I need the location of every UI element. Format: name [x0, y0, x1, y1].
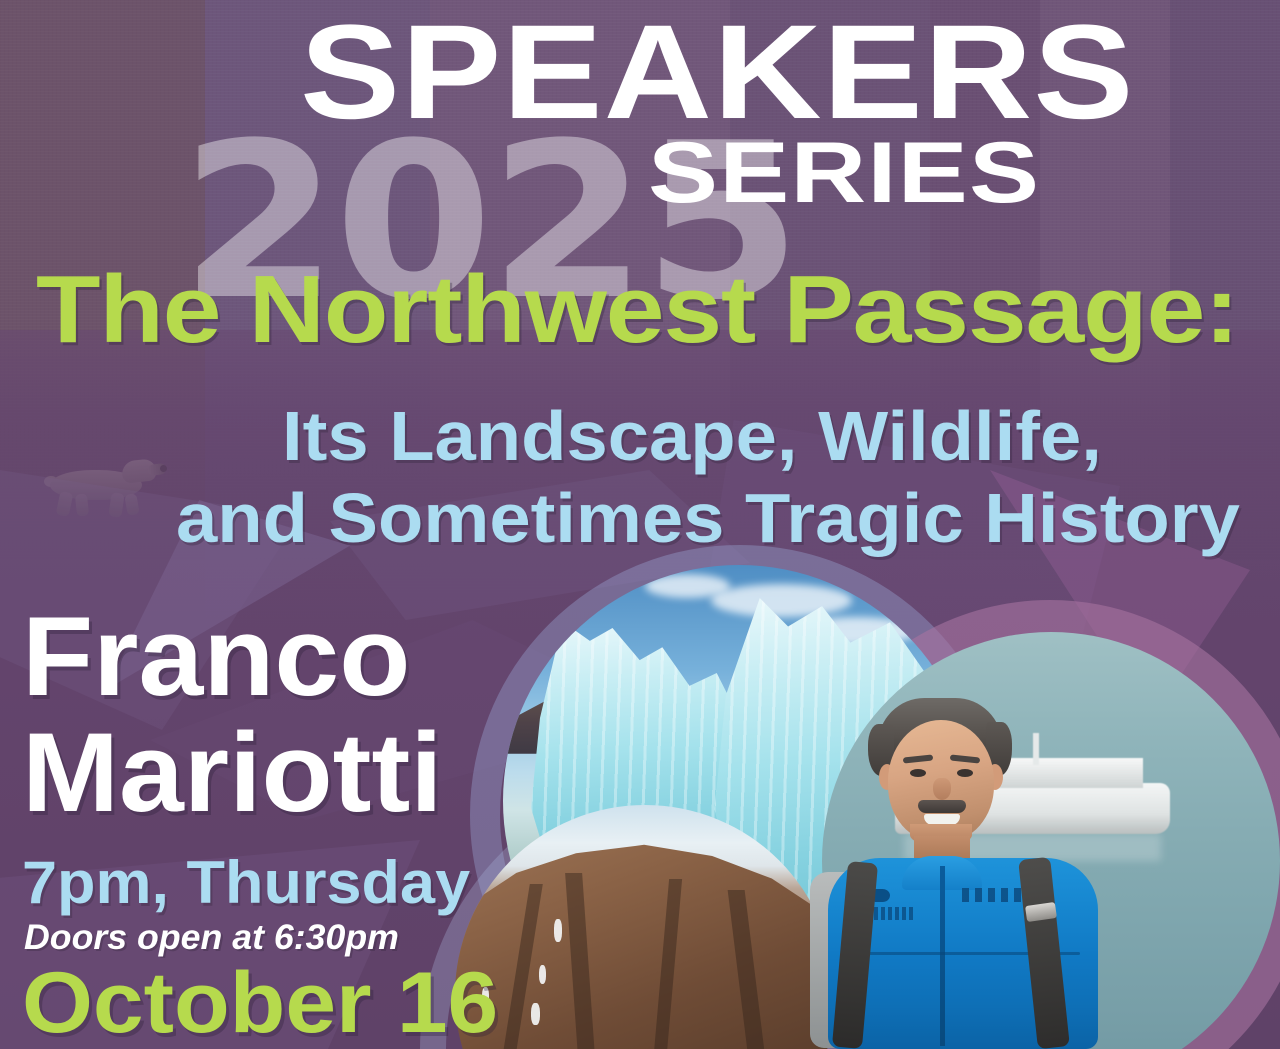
- event-date: October 16: [22, 954, 498, 1049]
- mountain-gully: [565, 873, 596, 1049]
- snow-patch: [531, 1003, 540, 1026]
- speaker-portrait: [810, 690, 1120, 1049]
- eye: [957, 769, 973, 777]
- talk-subtitle-line-2: and Sometimes Tragic History: [176, 478, 1240, 558]
- snow-patch: [554, 919, 562, 942]
- speaker-first-name: Franco: [22, 592, 410, 721]
- snow-patch: [539, 965, 547, 984]
- cloud: [645, 574, 730, 598]
- talk-title: The Northwest Passage:: [36, 255, 1238, 365]
- logo-shape: [875, 889, 890, 902]
- moustache: [918, 800, 966, 813]
- eye: [910, 769, 926, 777]
- event-time: 7pm, Thursday: [22, 848, 470, 917]
- jacket-zipper: [940, 866, 945, 1046]
- mountain-gully: [727, 890, 765, 1049]
- mountain-gully: [653, 879, 682, 1049]
- header-series: SERIES: [648, 124, 1040, 223]
- cloud: [711, 584, 853, 617]
- rocky-mountain-photo-circle: [455, 805, 835, 1049]
- talk-subtitle-line-1: Its Landscape, Wildlife,: [282, 396, 1102, 476]
- speaker-series-poster: 2025 SPEAKERS SERIES The Northwest Passa…: [0, 0, 1280, 1049]
- nose: [933, 778, 951, 800]
- event-doors-open: Doors open at 6:30pm: [24, 918, 399, 958]
- speaker-last-name: Mariotti: [22, 708, 443, 837]
